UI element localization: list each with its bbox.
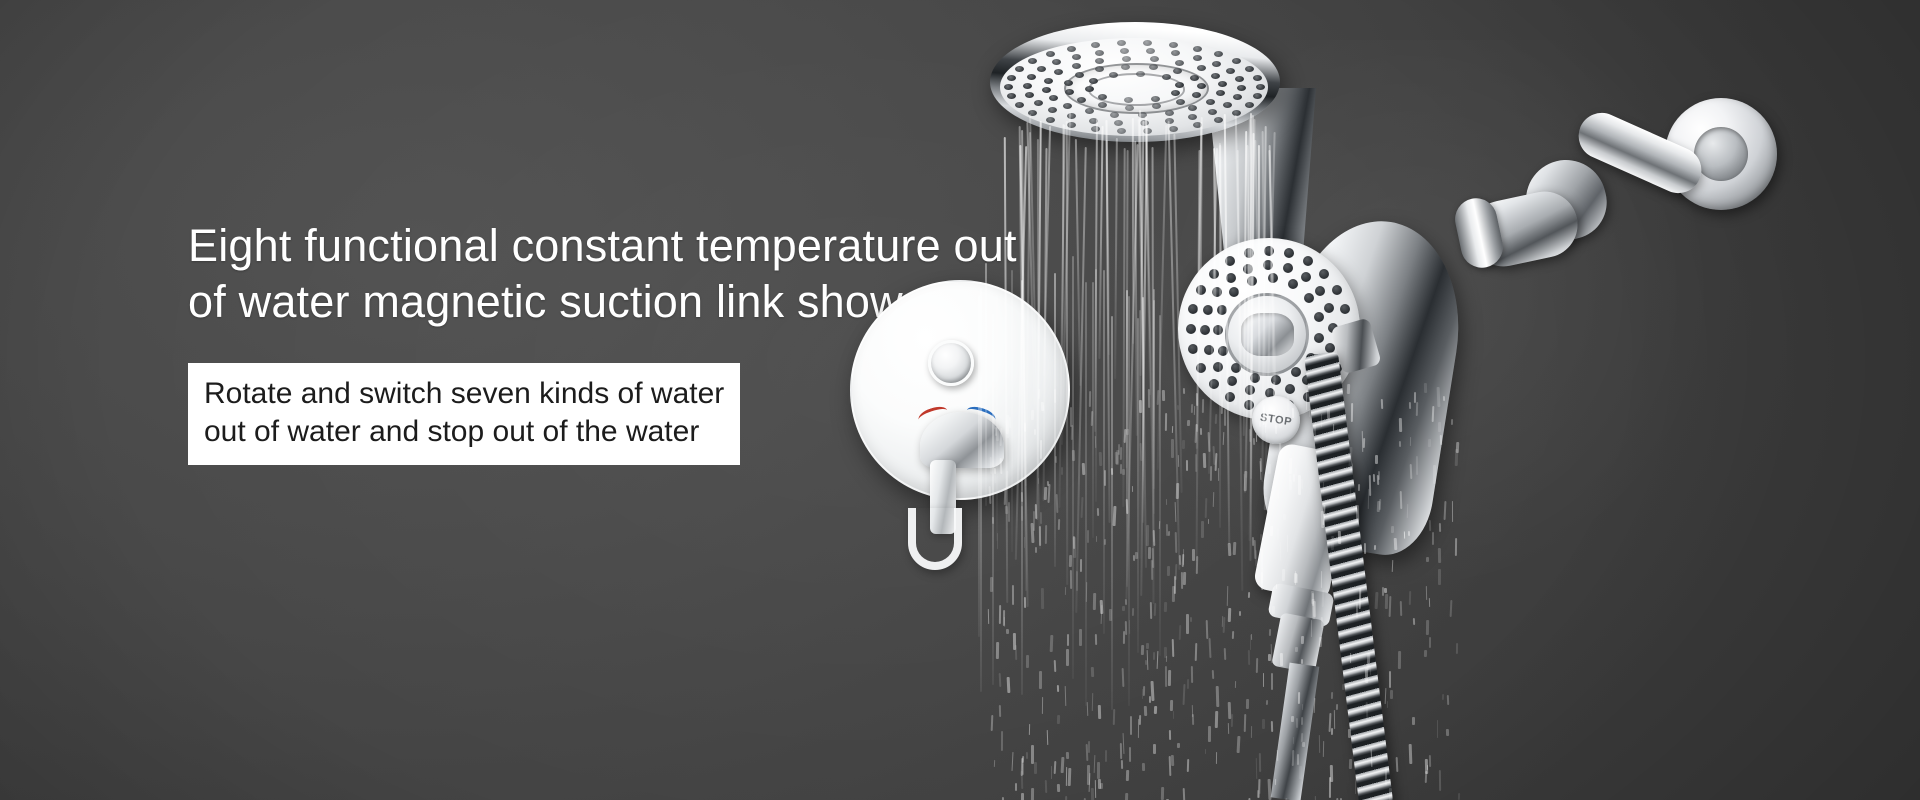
water-droplet <box>1090 667 1093 677</box>
water-droplet <box>1021 758 1024 776</box>
water-droplet <box>1145 660 1147 665</box>
water-droplet <box>1104 538 1106 544</box>
handheld-nozzle <box>1315 286 1325 296</box>
water-droplet <box>1182 554 1184 567</box>
water-droplet <box>1097 762 1100 779</box>
handheld-nozzle <box>1319 269 1329 279</box>
water-droplet <box>1429 637 1431 648</box>
rain-nozzle <box>1120 48 1129 54</box>
water-droplet <box>1329 777 1331 798</box>
water-stream <box>1126 150 1129 468</box>
water-stream <box>1139 121 1144 376</box>
water-droplet <box>1390 690 1393 699</box>
water-droplet <box>1043 487 1046 500</box>
water-droplet <box>1319 735 1320 753</box>
water-droplet <box>1022 756 1024 763</box>
water-droplet <box>1202 399 1205 413</box>
water-droplet <box>1153 652 1155 660</box>
water-stream <box>1095 269 1097 502</box>
water-droplet <box>1208 726 1211 742</box>
water-droplet <box>1008 502 1010 522</box>
water-droplet <box>1148 547 1151 559</box>
water-droplet <box>1147 650 1149 670</box>
rain-nozzle <box>1007 93 1016 99</box>
rain-nozzle <box>1085 108 1094 114</box>
rain-nozzle <box>1192 92 1201 98</box>
water-droplet <box>1259 461 1261 480</box>
water-droplet <box>1201 521 1204 538</box>
water-droplet <box>1382 587 1384 596</box>
handheld-nozzle <box>1203 305 1213 315</box>
water-droplet <box>1095 436 1097 448</box>
rain-nozzle <box>1037 66 1046 72</box>
handheld-nozzle <box>1314 312 1324 322</box>
water-droplet <box>1169 756 1172 776</box>
water-droplet <box>1051 766 1052 779</box>
water-stream <box>1075 147 1087 613</box>
rain-nozzle <box>1125 105 1134 111</box>
water-droplet <box>1141 645 1144 655</box>
water-droplet <box>1071 425 1074 440</box>
water-droplet <box>1165 666 1167 687</box>
water-droplet <box>1135 552 1138 559</box>
water-droplet <box>1215 711 1218 728</box>
water-droplet <box>1081 497 1084 518</box>
water-droplet <box>1426 586 1428 600</box>
water-droplet <box>1412 717 1415 725</box>
water-droplet <box>1079 629 1082 646</box>
water-droplet <box>1214 414 1216 424</box>
water-droplet <box>1168 670 1171 686</box>
water-droplet <box>1178 625 1181 640</box>
rain-nozzle <box>1218 81 1227 87</box>
water-droplet <box>1165 656 1167 662</box>
water-droplet <box>1123 631 1125 644</box>
handheld-nozzle <box>1212 287 1222 297</box>
rain-nozzle <box>1150 56 1159 62</box>
water-droplet <box>1271 721 1273 732</box>
water-droplet <box>1208 519 1209 524</box>
rain-nozzle <box>1206 99 1215 105</box>
rain-nozzle <box>1226 68 1235 74</box>
water-droplet <box>1186 679 1188 689</box>
water-droplet <box>1151 681 1155 701</box>
water-droplet <box>1409 744 1412 764</box>
water-droplet <box>1425 771 1428 783</box>
water-droplet <box>1251 726 1252 738</box>
rain-nozzle <box>1015 66 1024 72</box>
water-stream <box>1145 117 1151 395</box>
water-droplet <box>1233 541 1236 554</box>
handheld-nozzle <box>1301 272 1311 282</box>
handheld-nozzle <box>1204 345 1214 355</box>
water-droplet <box>999 673 1001 687</box>
water-droplet <box>1334 710 1335 729</box>
rain-nozzle <box>1095 50 1104 56</box>
water-droplet <box>1157 390 1160 405</box>
rain-nozzle <box>1121 64 1130 70</box>
rain-nozzle <box>1065 89 1074 95</box>
water-droplet <box>1456 442 1459 453</box>
water-droplet <box>1064 686 1066 706</box>
water-droplet <box>1007 677 1010 693</box>
rain-nozzle <box>1253 75 1262 81</box>
rain-nozzle <box>1245 66 1254 72</box>
water-droplet <box>1098 705 1101 719</box>
water-droplet <box>1053 761 1056 774</box>
water-droplet <box>1439 770 1441 791</box>
water-droplet <box>1015 783 1017 791</box>
water-droplet <box>1080 559 1082 572</box>
rain-nozzle <box>1046 117 1055 123</box>
water-droplet <box>1021 793 1024 800</box>
water-droplet <box>1121 668 1124 687</box>
water-stream <box>1142 297 1144 523</box>
rain-nozzle <box>1237 85 1246 91</box>
water-droplet <box>1171 755 1174 766</box>
water-droplet <box>1141 763 1144 771</box>
water-droplet <box>1087 702 1089 716</box>
handheld-nozzle <box>1247 276 1257 286</box>
water-droplet <box>1212 670 1215 679</box>
water-droplet <box>1389 596 1392 617</box>
water-droplet <box>1069 570 1071 589</box>
water-droplet <box>1091 411 1093 426</box>
water-droplet <box>1125 599 1127 605</box>
water-droplet <box>1208 432 1211 452</box>
water-droplet <box>1162 390 1165 401</box>
water-droplet <box>1179 555 1181 565</box>
water-droplet <box>1227 701 1230 718</box>
water-droplet <box>1065 587 1066 595</box>
water-droplet <box>1213 492 1215 507</box>
water-droplet <box>1260 458 1262 472</box>
water-droplet <box>1035 504 1038 519</box>
water-droplet <box>1073 536 1075 549</box>
water-droplet <box>991 715 994 731</box>
water-droplet <box>1061 467 1063 475</box>
water-droplet <box>1050 635 1054 652</box>
water-stream <box>1094 119 1098 432</box>
water-droplet <box>1099 452 1102 466</box>
water-droplet <box>1398 651 1401 669</box>
water-droplet <box>991 517 993 524</box>
rain-nozzle <box>1188 105 1197 111</box>
water-droplet <box>1195 424 1198 443</box>
water-droplet <box>1124 429 1127 443</box>
water-droplet <box>1336 704 1338 710</box>
water-droplet <box>1268 654 1271 661</box>
water-droplet <box>1082 463 1085 475</box>
rain-nozzle <box>1146 48 1155 54</box>
water-droplet <box>1125 793 1128 800</box>
water-droplet <box>1195 643 1197 661</box>
water-droplet <box>1455 643 1457 654</box>
water-droplet <box>1139 400 1142 413</box>
rain-nozzle <box>1110 112 1119 118</box>
water-stream <box>1159 315 1161 655</box>
water-droplet <box>1228 608 1231 622</box>
water-droplet <box>1262 719 1265 729</box>
water-droplet <box>1223 617 1226 633</box>
water-droplet <box>1330 765 1333 782</box>
rain-nozzle <box>1028 110 1037 116</box>
water-droplet <box>1446 695 1448 705</box>
water-droplet <box>1259 753 1262 772</box>
water-droplet <box>1039 671 1042 689</box>
product-photo: STOP <box>980 0 1920 800</box>
water-droplet <box>1034 762 1037 774</box>
water-stream <box>1151 147 1154 604</box>
rain-nozzle <box>1042 87 1051 93</box>
water-droplet <box>1329 713 1332 732</box>
water-droplet <box>1235 681 1237 688</box>
handheld-nozzle <box>1245 385 1255 395</box>
water-droplet <box>994 760 995 767</box>
water-droplet <box>1250 635 1251 650</box>
water-droplet <box>1121 760 1124 769</box>
rain-nozzle <box>1049 95 1058 101</box>
water-droplet <box>1252 537 1254 546</box>
water-stream <box>1145 116 1155 542</box>
water-droplet <box>1323 741 1325 757</box>
handheld-nozzle <box>1271 375 1281 385</box>
water-droplet <box>1132 608 1134 616</box>
water-stream <box>1059 125 1066 508</box>
subtitle-callout-box: Rotate and switch seven kinds of water o… <box>188 363 740 465</box>
water-droplet <box>1141 689 1142 699</box>
water-stream <box>1062 124 1065 352</box>
water-droplet <box>1118 444 1120 455</box>
water-droplet <box>1181 572 1183 589</box>
water-droplet <box>1231 714 1234 727</box>
rain-nozzle <box>1114 120 1123 126</box>
water-droplet <box>1172 426 1174 433</box>
water-droplet <box>1035 547 1037 553</box>
water-droplet <box>1209 638 1212 658</box>
water-droplet <box>1224 409 1226 426</box>
water-droplet <box>1425 759 1428 774</box>
water-droplet <box>1057 684 1059 691</box>
water-droplet <box>1168 531 1170 536</box>
rain-nozzle <box>1048 107 1057 113</box>
water-droplet <box>1256 758 1258 779</box>
water-droplet <box>1026 752 1028 759</box>
water-droplet <box>1166 524 1168 536</box>
water-droplet <box>1429 598 1431 607</box>
water-droplet <box>1122 469 1125 475</box>
rain-nozzle <box>1171 90 1180 96</box>
water-droplet <box>1195 424 1198 432</box>
water-droplet <box>1158 521 1160 529</box>
water-droplet <box>1331 728 1333 735</box>
rain-nozzle <box>1193 55 1202 61</box>
water-droplet <box>1031 745 1034 764</box>
water-droplet <box>1224 648 1227 660</box>
handheld-nozzle <box>1244 400 1254 410</box>
water-droplet <box>1096 536 1097 542</box>
water-droplet <box>1426 765 1427 770</box>
handheld-nozzle <box>1231 363 1241 373</box>
rain-nozzle <box>1054 69 1063 75</box>
water-droplet <box>1030 523 1034 543</box>
water-stream <box>1075 139 1081 386</box>
rain-nozzle <box>1245 102 1254 108</box>
water-droplet <box>1021 506 1023 521</box>
rain-nozzle <box>1072 54 1081 60</box>
water-droplet <box>990 577 993 592</box>
water-droplet <box>1126 429 1129 435</box>
water-droplet <box>1012 752 1014 771</box>
water-droplet <box>1183 572 1186 585</box>
rain-nozzle <box>1007 75 1016 81</box>
rain-shower-face <box>1000 38 1268 136</box>
handheld-nozzle <box>1263 260 1273 270</box>
water-droplet <box>1175 564 1178 580</box>
water-droplet <box>1104 470 1106 486</box>
water-droplet <box>1095 634 1097 645</box>
water-droplet <box>1175 532 1177 553</box>
water-droplet <box>1087 530 1089 543</box>
rain-nozzle <box>1169 126 1178 132</box>
water-droplet <box>1314 796 1316 800</box>
water-droplet <box>1253 438 1255 445</box>
rain-nozzle <box>1214 117 1223 123</box>
water-droplet <box>1086 582 1088 602</box>
water-droplet <box>1120 743 1122 759</box>
water-droplet <box>1093 593 1096 610</box>
water-droplet <box>1248 650 1251 665</box>
water-droplet <box>1451 501 1452 522</box>
water-droplet <box>1244 474 1246 492</box>
water-droplet <box>1190 617 1192 622</box>
rain-nozzle <box>1151 96 1160 102</box>
water-droplet <box>1153 744 1156 754</box>
water-droplet <box>1013 633 1016 650</box>
water-droplet <box>1177 743 1180 748</box>
rain-nozzle <box>1138 112 1147 118</box>
water-droplet <box>1172 639 1174 657</box>
water-droplet <box>1187 759 1189 772</box>
water-droplet <box>1429 755 1431 767</box>
water-droplet <box>1218 468 1220 481</box>
water-droplet <box>1129 747 1131 762</box>
water-droplet <box>1126 770 1129 781</box>
water-droplet <box>1073 537 1076 558</box>
handheld-nozzle <box>1340 304 1350 314</box>
handheld-nozzle <box>1244 248 1254 258</box>
water-droplet <box>1165 413 1167 431</box>
water-stream <box>1111 316 1113 710</box>
water-droplet <box>1150 560 1152 580</box>
stop-button-label: STOP <box>1259 412 1293 429</box>
water-stream <box>1065 121 1067 585</box>
water-droplet <box>1385 594 1388 609</box>
water-stream <box>1085 282 1087 706</box>
water-droplet <box>1143 706 1146 716</box>
water-droplet <box>1001 731 1003 751</box>
water-droplet <box>1070 407 1072 427</box>
water-droplet <box>1439 523 1442 532</box>
water-droplet <box>1024 597 1026 608</box>
rain-nozzle <box>1233 94 1242 100</box>
rain-nozzle <box>1232 110 1241 116</box>
water-droplet <box>1041 588 1044 609</box>
handheld-nozzle <box>1264 246 1274 256</box>
rain-nozzle <box>1122 56 1131 62</box>
water-droplet <box>1249 429 1251 442</box>
rain-nozzle <box>1193 46 1202 52</box>
water-droplet <box>1441 694 1443 700</box>
water-droplet <box>1232 631 1235 639</box>
water-droplet <box>1446 729 1449 736</box>
handheld-nozzle <box>1196 363 1206 373</box>
water-droplet <box>1130 716 1132 735</box>
handheld-nozzle <box>1283 263 1293 273</box>
rain-nozzle <box>1214 51 1223 57</box>
water-droplet <box>1066 767 1068 786</box>
water-droplet <box>1110 468 1113 475</box>
water-droplet <box>1116 450 1119 465</box>
diverter-knob[interactable] <box>928 340 974 386</box>
water-stream <box>1132 118 1134 344</box>
water-droplet <box>1071 450 1074 461</box>
water-droplet <box>1246 699 1249 709</box>
water-droplet <box>1006 629 1009 634</box>
water-droplet <box>1200 428 1202 435</box>
water-droplet <box>1100 783 1103 789</box>
water-droplet <box>1170 700 1173 711</box>
rain-nozzle <box>1212 61 1221 67</box>
handheld-nozzle <box>1218 346 1228 356</box>
rain-nozzle <box>1025 92 1034 98</box>
handheld-nozzle <box>1188 304 1198 314</box>
rain-nozzle <box>1197 65 1206 71</box>
handheld-nozzle <box>1213 362 1223 372</box>
handheld-nozzle <box>1227 376 1237 386</box>
water-stream <box>1157 125 1168 470</box>
water-droplet <box>999 705 1001 717</box>
water-droplet <box>1196 556 1198 574</box>
rain-nozzle <box>1175 82 1184 88</box>
water-droplet <box>1140 443 1143 461</box>
water-droplet <box>1409 591 1411 605</box>
handheld-nozzle <box>1288 279 1298 289</box>
water-droplet <box>1455 538 1458 556</box>
water-droplet <box>1395 757 1398 772</box>
water-droplet <box>1164 647 1167 658</box>
water-droplet <box>1195 454 1198 472</box>
water-droplet <box>1087 765 1090 785</box>
water-droplet <box>1068 768 1072 786</box>
water-droplet <box>1269 629 1271 636</box>
hose-tail <box>1271 663 1320 800</box>
water-droplet <box>1244 714 1247 732</box>
water-droplet <box>1254 540 1257 559</box>
water-droplet <box>1092 693 1094 711</box>
water-droplet <box>1171 439 1174 458</box>
water-stream <box>1153 289 1155 514</box>
water-droplet <box>1033 511 1035 531</box>
handheld-nozzle <box>1188 344 1198 354</box>
water-droplet <box>1183 788 1185 800</box>
rain-nozzle <box>1015 102 1024 108</box>
water-droplet <box>1331 692 1333 699</box>
rain-nozzle <box>1176 99 1185 105</box>
rain-nozzle <box>1208 109 1217 115</box>
handheld-nozzle <box>1209 379 1219 389</box>
handheld-nozzle <box>1291 367 1301 377</box>
